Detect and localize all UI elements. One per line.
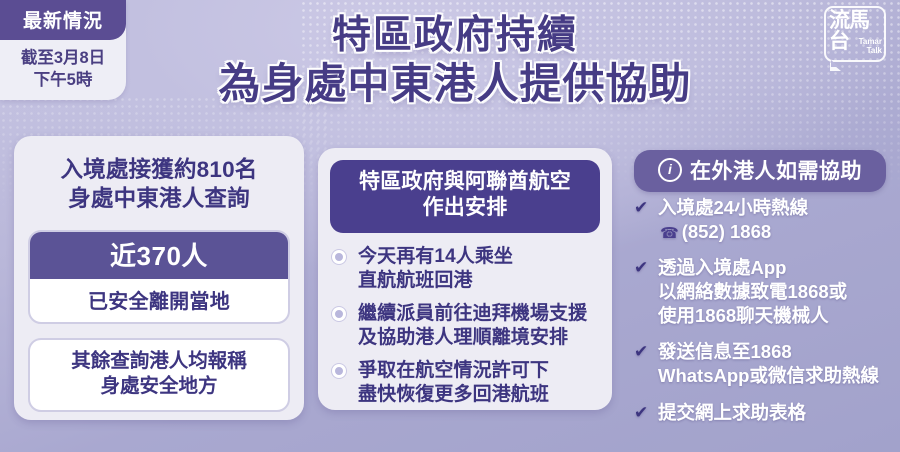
list-item-line-1: 提交網上求助表格 bbox=[658, 402, 806, 423]
list-item-line-1: 入境處24小時熱線 bbox=[658, 197, 808, 218]
update-badge-timestamp: 截至3月8日 下午5時 bbox=[0, 40, 126, 100]
help-heading: i 在外港人如需協助 bbox=[634, 150, 886, 192]
list-item: ✔ 透過入境處App 以網絡數據致電1868或 使用1868聊天機械人 bbox=[634, 256, 896, 327]
list-item-line-1: 爭取在航空情況許可下 bbox=[358, 360, 549, 381]
list-item: 爭取在航空情況許可下 盡快恢復更多回港航班 bbox=[332, 359, 602, 407]
safe-location-note: 其餘查詢港人均報稱 身處安全地方 bbox=[28, 338, 290, 413]
list-item: ✔ 發送信息至1868 WhatsApp或微信求助熱線 bbox=[634, 340, 896, 387]
enquiries-heading-line-2: 身處中東港人查詢 bbox=[24, 185, 294, 214]
brand-logo: 流馬 台 Tamar Talk bbox=[824, 6, 886, 62]
ring-bullet-icon bbox=[332, 307, 346, 321]
infographic-poster: 最新情況 截至3月8日 下午5時 特區政府持續 為身處中東港人提供協助 流馬 台… bbox=[0, 0, 900, 452]
list-item-line-3: 使用1868聊天機械人 bbox=[658, 305, 829, 326]
arrangements-heading-line-2: 作出安排 bbox=[336, 195, 594, 221]
list-item-line-1: 透過入境處App bbox=[658, 257, 786, 278]
departed-safely-label: 已安全離開當地 bbox=[30, 279, 288, 322]
safe-location-note-line-1: 其餘查詢港人均報稱 bbox=[36, 349, 282, 374]
list-item: ✔ 入境處24小時熱線 ☎(852) 1868 bbox=[634, 196, 896, 243]
list-item-line-2: WhatsApp或微信求助熱線 bbox=[658, 365, 879, 386]
safe-location-note-line-2: 身處安全地方 bbox=[36, 374, 282, 399]
check-icon: ✔ bbox=[634, 404, 651, 421]
brand-logo-cn-line-1: 流馬 bbox=[829, 10, 869, 31]
update-badge-timestamp-time: 下午5時 bbox=[4, 69, 122, 91]
enquiries-heading-line-1: 入境處接獲約810名 bbox=[24, 156, 294, 185]
departed-safely-value: 近370人 bbox=[30, 232, 288, 279]
update-badge: 最新情況 截至3月8日 下午5時 bbox=[0, 0, 126, 100]
arrangements-card: 特區政府與阿聯酋航空 作出安排 今天再有14人乘坐 直航航班回港 繼續派員前往迪… bbox=[318, 148, 612, 410]
list-item-line-2: 直航航班回港 bbox=[358, 270, 473, 291]
hotline-number: (852) 1868 bbox=[682, 221, 771, 242]
page-title-line-1: 特區政府持續 bbox=[150, 14, 760, 58]
list-item-line-1: 繼續派員前往迪拜機場支援 bbox=[358, 303, 587, 324]
enquiries-heading: 入境處接獲約810名 身處中東港人查詢 bbox=[14, 136, 304, 214]
help-heading-label: 在外港人如需協助 bbox=[690, 155, 862, 185]
check-icon: ✔ bbox=[634, 199, 651, 216]
update-badge-title: 最新情況 bbox=[0, 0, 126, 40]
help-channels-list: ✔ 入境處24小時熱線 ☎(852) 1868 ✔ 透過入境處App 以網絡數據… bbox=[634, 196, 896, 437]
list-item-line-1: 發送信息至1868 bbox=[658, 341, 792, 362]
enquiries-card: 入境處接獲約810名 身處中東港人查詢 近370人 已安全離開當地 其餘查詢港人… bbox=[14, 136, 304, 420]
list-item: ✔ 提交網上求助表格 bbox=[634, 401, 896, 425]
phone-icon: ☎ bbox=[660, 224, 679, 243]
arrangements-list: 今天再有14人乘坐 直航航班回港 繼續派員前往迪拜機場支援 及協助港人理順離境安… bbox=[318, 245, 612, 407]
page-title: 特區政府持續 為身處中東港人提供協助 bbox=[150, 14, 760, 107]
page-title-line-2: 為身處中東港人提供協助 bbox=[150, 60, 760, 107]
speech-bubble-tail-inner-icon bbox=[831, 60, 839, 67]
info-icon: i bbox=[658, 158, 682, 182]
ring-bullet-icon bbox=[332, 250, 346, 264]
list-item: 繼續派員前往迪拜機場支援 及協助港人理順離境安排 bbox=[332, 302, 602, 350]
list-item-line-2: 盡快恢復更多回港航班 bbox=[358, 384, 549, 405]
update-badge-timestamp-date: 截至3月8日 bbox=[4, 47, 122, 69]
list-item-line-2: 及協助港人理順離境安排 bbox=[358, 327, 568, 348]
ring-bullet-icon bbox=[332, 364, 346, 378]
list-item: 今天再有14人乘坐 直航航班回港 bbox=[332, 245, 602, 293]
arrangements-heading: 特區政府與阿聯酋航空 作出安排 bbox=[330, 160, 600, 233]
list-item-line-2: 以網絡數據致電1868或 bbox=[658, 281, 847, 302]
list-item-line-2: ☎(852) 1868 bbox=[658, 220, 896, 244]
arrangements-heading-line-1: 特區政府與阿聯酋航空 bbox=[336, 169, 594, 195]
check-icon: ✔ bbox=[634, 343, 651, 360]
check-icon: ✔ bbox=[634, 259, 651, 276]
brand-logo-en: Tamar Talk bbox=[859, 38, 882, 55]
departed-safely-box: 近370人 已安全離開當地 bbox=[28, 230, 290, 324]
brand-logo-en-line-2: Talk bbox=[859, 47, 882, 55]
list-item-line-1: 今天再有14人乘坐 bbox=[358, 246, 513, 267]
